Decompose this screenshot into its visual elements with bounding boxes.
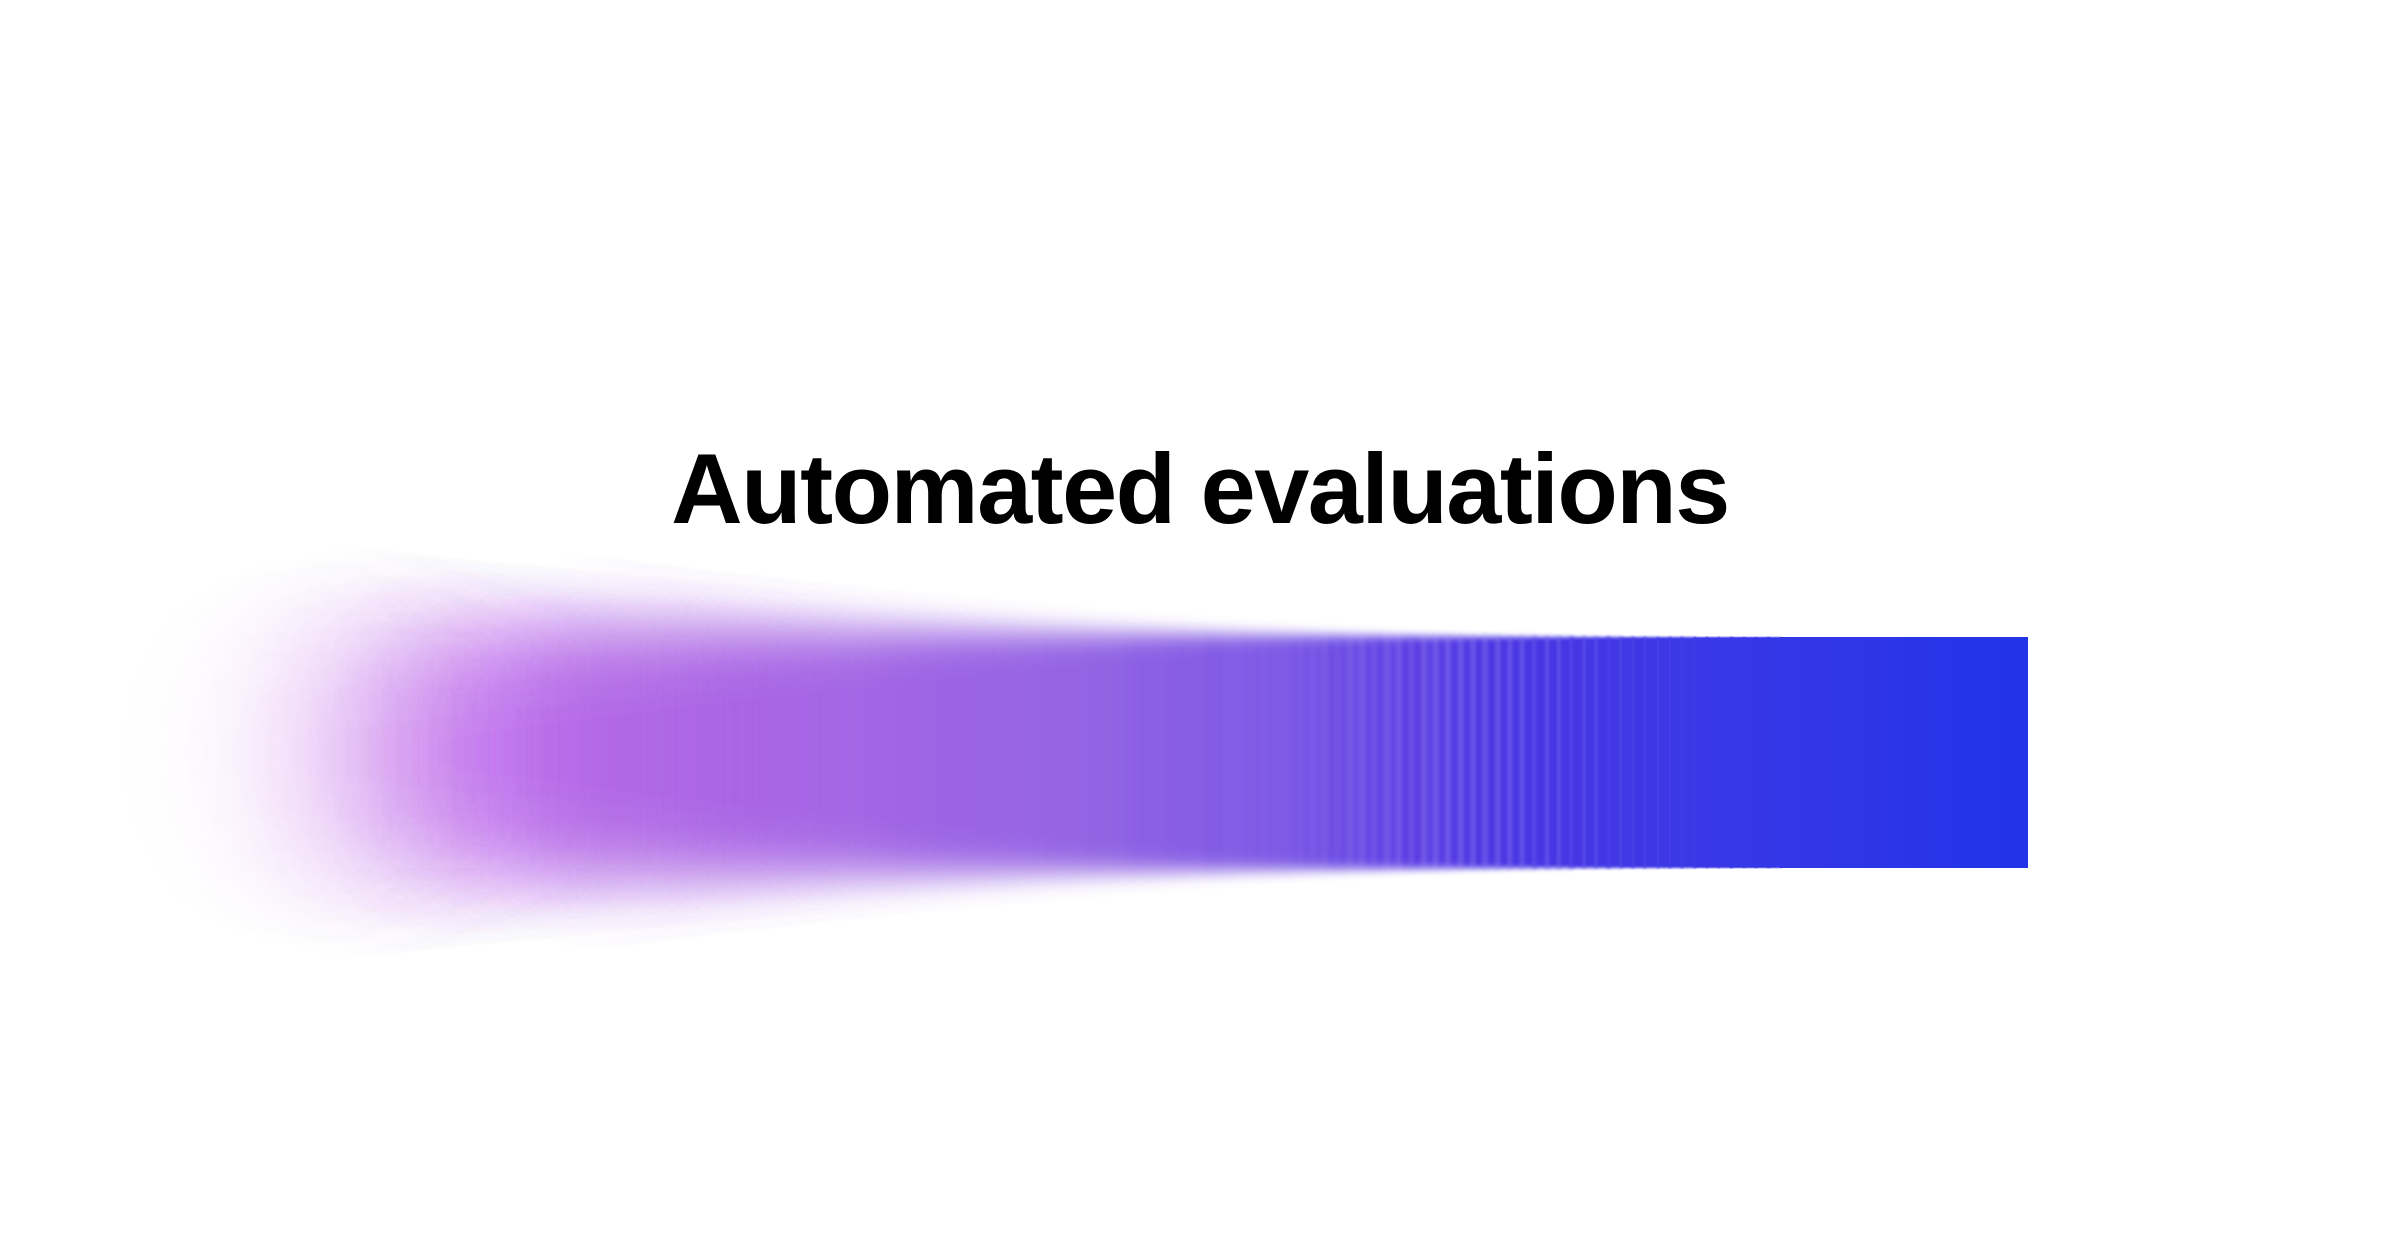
gradient-slice — [1164, 637, 1179, 868]
gradient-slice — [1940, 637, 1955, 868]
gradient-slice — [1620, 637, 1635, 868]
gradient-slice — [462, 637, 477, 868]
gradient-slice — [1583, 637, 1598, 868]
gradient-slice — [721, 637, 736, 868]
gradient-slice — [635, 637, 650, 868]
gradient-slice — [1189, 637, 1204, 868]
gradient-slice — [1263, 637, 1278, 868]
gradient-slice — [1029, 637, 1044, 868]
gradient-slice — [770, 637, 785, 868]
gradient-slice — [561, 637, 576, 868]
gradient-slice — [881, 637, 896, 868]
gradient-slice — [992, 637, 1007, 868]
gradient-slice — [1386, 637, 1401, 868]
gradient-slice — [1066, 637, 1081, 868]
gradient-slice — [782, 637, 797, 868]
gradient-slice — [1201, 637, 1216, 868]
gradient-slice — [1213, 637, 1228, 868]
gradient-slice — [844, 637, 859, 868]
gradient-slice — [1927, 637, 1942, 868]
gradient-slice — [1644, 637, 1659, 868]
gradient-slice — [1324, 637, 1339, 868]
gradient-slice — [1546, 637, 1561, 868]
gradient-slice — [905, 637, 920, 868]
gradient-slice — [832, 637, 847, 868]
gradient-slice — [955, 637, 970, 868]
gradient-slice — [1349, 637, 1364, 868]
gradient-slice — [1300, 637, 1315, 868]
gradient-slice — [548, 637, 563, 868]
gradient-slice — [1533, 637, 1548, 868]
gradient-slice — [1435, 637, 1450, 868]
gradient-slice — [1238, 637, 1253, 868]
gradient-slice — [869, 637, 884, 868]
gradient-slice — [1694, 637, 1709, 868]
gradient-slice — [1460, 637, 1475, 868]
gradient-slice — [1336, 637, 1351, 868]
gradient-slice — [1127, 637, 1142, 868]
gradient-slice — [1312, 637, 1327, 868]
gradient-slice — [1472, 637, 1487, 868]
gradient-slice — [1964, 637, 1979, 868]
gradient-slice — [511, 637, 526, 868]
gradient-slice — [1176, 637, 1191, 868]
gradient-slice — [1977, 637, 1992, 868]
gradient-slice — [745, 637, 760, 868]
page-canvas: Automated evaluations — [0, 0, 2400, 1260]
gradient-slice — [1115, 637, 1130, 868]
gradient-slice — [1780, 637, 1795, 868]
gradient-slice — [1226, 637, 1241, 868]
gradient-slice — [1767, 637, 1782, 868]
gradient-slice — [1521, 637, 1536, 868]
gradient-slice — [598, 637, 613, 868]
gradient-slice — [1952, 637, 1967, 868]
gradient-slice — [524, 637, 539, 868]
gradient-slice — [1878, 637, 1893, 868]
gradient-slice — [2014, 637, 2029, 868]
gradient-slice — [1989, 637, 2004, 868]
gradient-slice — [684, 637, 699, 868]
gradient-slice — [1373, 637, 1388, 868]
gradient-slice — [893, 637, 908, 868]
gradient-slice — [1250, 637, 1265, 868]
page-title: Automated evaluations — [0, 434, 2400, 544]
gradient-slice — [1755, 637, 1770, 868]
gradient-slice — [942, 637, 957, 868]
gradient-slice — [1718, 637, 1733, 868]
gradient-slice — [487, 637, 502, 868]
gradient-slice — [1595, 637, 1610, 868]
gradient-slice — [1361, 637, 1376, 868]
gradient-slice — [672, 637, 687, 868]
gradient-slice — [1669, 637, 1684, 868]
gradient-slice — [918, 637, 933, 868]
gradient-slice — [647, 637, 662, 868]
gradient-slice — [758, 637, 773, 868]
gradient-slice — [795, 637, 810, 868]
gradient-slice — [1792, 637, 1807, 868]
gradient-slice — [610, 637, 625, 868]
gradient-slice — [1607, 637, 1622, 868]
gradient-slice — [1447, 637, 1462, 868]
gradient-slice — [807, 637, 822, 868]
gradient-slice — [1570, 637, 1585, 868]
gradient-slice — [1743, 637, 1758, 868]
gradient-slice — [2001, 637, 2016, 868]
gradient-slice — [1410, 637, 1425, 868]
gradient-slice — [1090, 637, 1105, 868]
gradient-slice — [1103, 637, 1118, 868]
gradient-slice — [622, 637, 637, 868]
gradient-slice — [1484, 637, 1499, 868]
gradient-slice — [1041, 637, 1056, 868]
gradient-slice — [1681, 637, 1696, 868]
gradient-slice — [1509, 637, 1524, 868]
gradient-slice — [1891, 637, 1906, 868]
gradient-slice — [1866, 637, 1881, 868]
gradient-slice — [1558, 637, 1573, 868]
gradient-slice — [856, 637, 871, 868]
gradient-slice — [1817, 637, 1832, 868]
gradient-slice — [536, 637, 551, 868]
gradient-slice — [1398, 637, 1413, 868]
gradient-slice — [1854, 637, 1869, 868]
gradient-slice — [1053, 637, 1068, 868]
gradient-slice — [979, 637, 994, 868]
gradient-slice — [819, 637, 834, 868]
gradient-slice — [1706, 637, 1721, 868]
gradient-slice — [1730, 637, 1745, 868]
gradient-slice — [733, 637, 748, 868]
gradient-slice — [708, 637, 723, 868]
gradient-slice — [1004, 637, 1019, 868]
gradient-slice — [1497, 637, 1512, 868]
gradient-slice — [1804, 637, 1819, 868]
gradient-slice — [1903, 637, 1918, 868]
gradient-slice — [585, 637, 600, 868]
gradient-slice — [1275, 637, 1290, 868]
gradient-slice — [1829, 637, 1844, 868]
gradient-slice — [1632, 637, 1647, 868]
gradient-slice — [1139, 637, 1154, 868]
gradient-slice — [1016, 637, 1031, 868]
gradient-slice — [967, 637, 982, 868]
gradient-slice — [659, 637, 674, 868]
gradient-slice — [1287, 637, 1302, 868]
gradient-slice — [499, 637, 514, 868]
gradient-slice — [930, 637, 945, 868]
gradient-slice — [1078, 637, 1093, 868]
gradient-slice — [696, 637, 711, 868]
gradient-slice — [573, 637, 588, 868]
gradient-slice — [1423, 637, 1438, 868]
gradient-slice — [1152, 637, 1167, 868]
gradient-slice — [1841, 637, 1856, 868]
gradient-slice — [1915, 637, 1930, 868]
gradient-slice — [475, 637, 490, 868]
gradient-slice — [1657, 637, 1672, 868]
